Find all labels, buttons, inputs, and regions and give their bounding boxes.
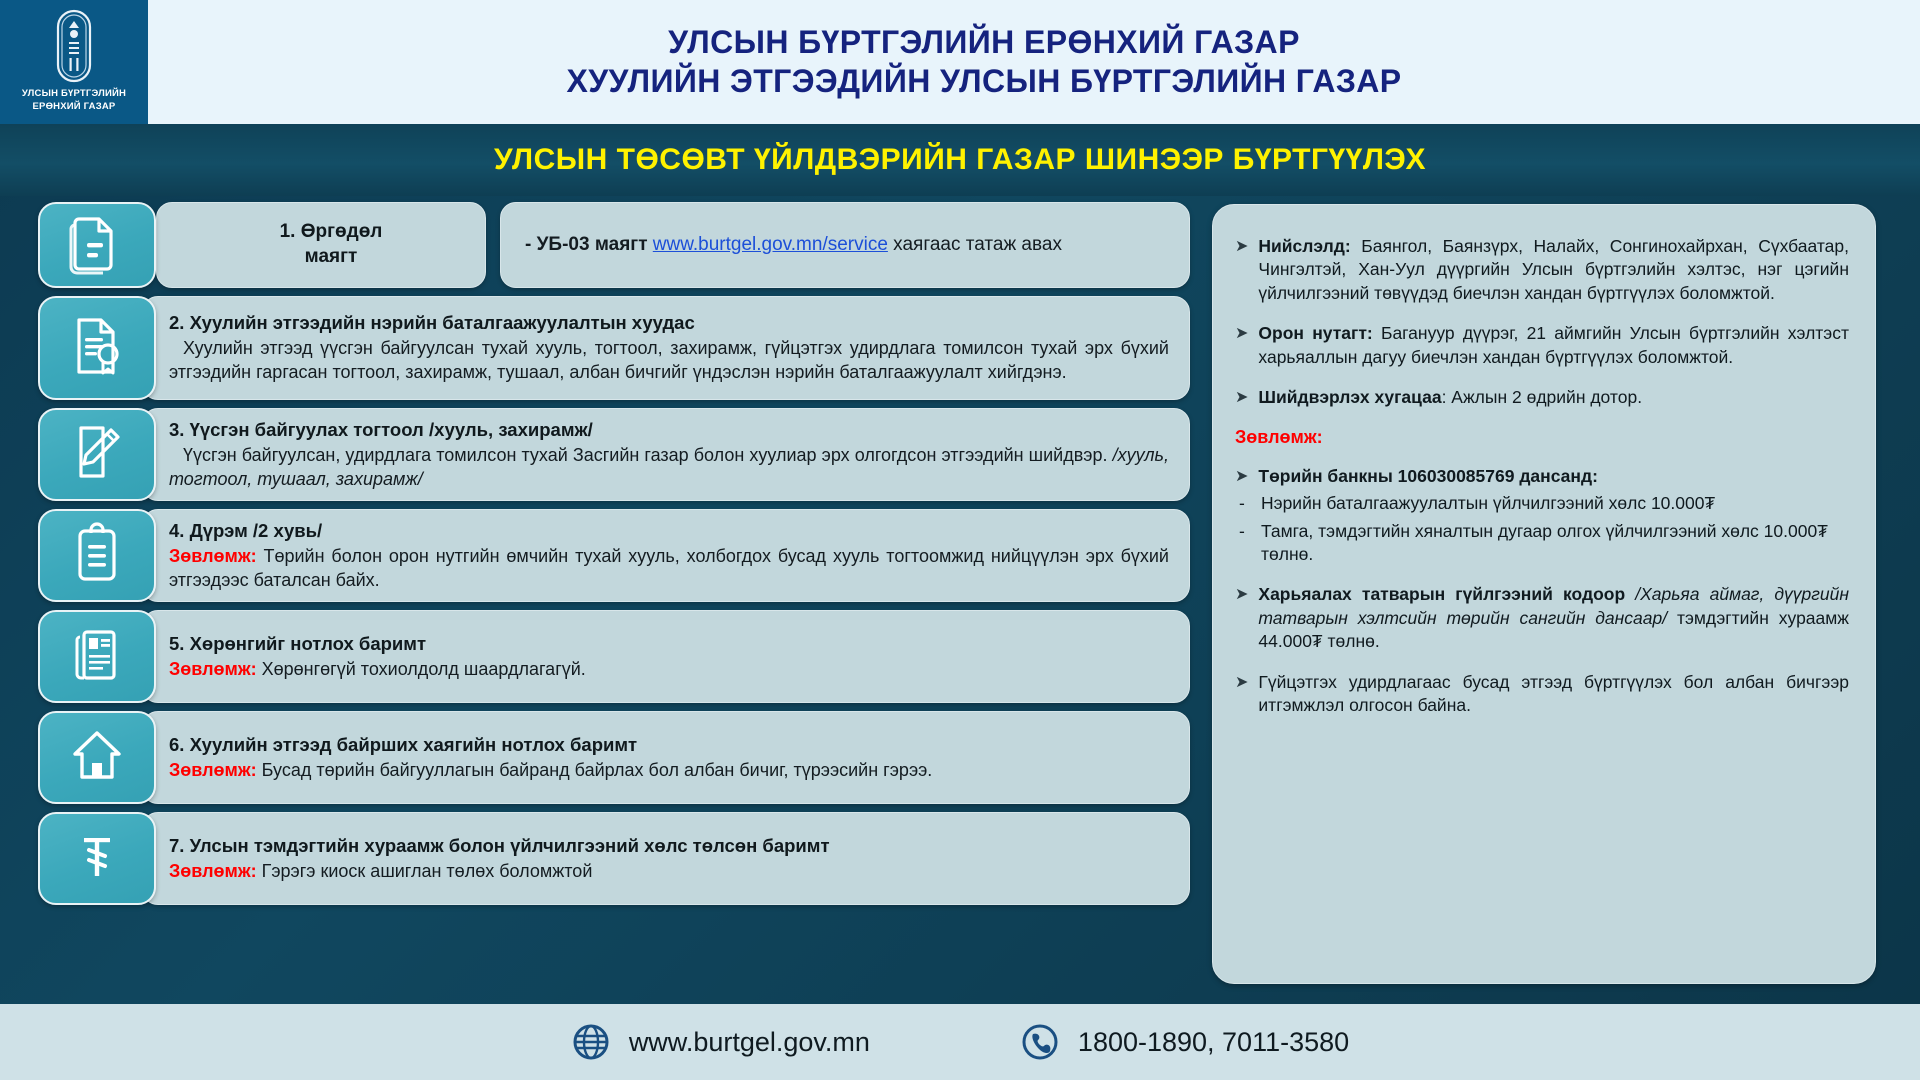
step-row-4: 4. Дүрэм /2 хувь/ Зөвлөмж: Төрийн болон … xyxy=(38,509,1190,602)
certificate-icon xyxy=(67,314,127,383)
step-5-rec-label: Зөвлөмж: xyxy=(169,659,257,679)
footer-website-text: www.burtgel.gov.mn xyxy=(629,1027,870,1058)
step-1-icon-tile xyxy=(38,202,156,288)
info-recommendation-header: Зөвлөмж: xyxy=(1235,427,1849,448)
document-icon xyxy=(67,211,127,280)
info-bullet-duration: ➤ Шийдвэрлэх хугацаа: Ажлын 2 өдрийн дот… xyxy=(1235,386,1849,409)
soyombo-emblem-icon xyxy=(49,9,99,83)
step-7-body: Зөвлөмж: Гэрэгэ киоск ашиглан төлөх боло… xyxy=(169,860,1169,884)
logo-caption-line2: ЕРӨНХИЙ ГАЗАР xyxy=(22,101,126,114)
step-3-title: 3. Үүсгэн байгуулах тогтоол /хууль, захи… xyxy=(169,418,1169,442)
newspaper-icon xyxy=(67,622,127,691)
arrow-bullet-icon: ➤ xyxy=(1235,583,1248,653)
footer-phone-text: 1800-1890, 7011-3580 xyxy=(1078,1027,1349,1058)
footer-website[interactable]: www.burtgel.gov.mn xyxy=(571,1022,870,1062)
info-bullet-capital: ➤ Нийслэлд: Баянгол, Баянзүрх, Налайх, С… xyxy=(1235,235,1849,305)
infographic-page: УЛСЫН БҮРТГЭЛИЙН ЕРӨНХИЙ ГАЗАР УЛСЫН БҮР… xyxy=(0,0,1920,1080)
step-1-label: 1. Өргөдөлмаягт xyxy=(280,220,383,269)
info-bullet-province: ➤ Орон нутагт: Багануур дүүрэг, 21 аймги… xyxy=(1235,322,1849,369)
step-5-title: 5. Хөрөнгийг нотлох баримт xyxy=(169,632,1169,656)
info-bullet-proxy-text: Гүйцэтгэх удирдлагаас бусад этгээд бүртг… xyxy=(1258,671,1849,718)
step-6-title: 6. Хуулийн этгээд байрших хаягийн нотлох… xyxy=(169,733,1169,757)
footer-phone[interactable]: 1800-1890, 7011-3580 xyxy=(1020,1022,1349,1062)
step-6-card: 6. Хуулийн этгээд байрших хаягийн нотлох… xyxy=(142,711,1190,804)
step-row-2: 2. Хуулийн этгээдийн нэрийн баталгаажуул… xyxy=(38,296,1190,400)
step-2-icon-tile xyxy=(38,296,156,400)
header-title-group: УЛСЫН БҮРТГЭЛИЙН ЕРӨНХИЙ ГАЗАР ХУУЛИЙН Э… xyxy=(148,0,1920,124)
info-bullet-duration-text: Шийдвэрлэх хугацаа: Ажлын 2 өдрийн дотор… xyxy=(1258,386,1849,409)
clipboard-icon xyxy=(67,521,127,590)
arrow-bullet-icon: ➤ xyxy=(1235,465,1248,488)
info-bank-fee-1: - Нэрийн баталгаажуулалтын үйлчилгээний … xyxy=(1239,492,1849,515)
info-bullet-bank: ➤ Төрийн банкны 106030085769 дансанд: xyxy=(1235,465,1849,488)
pencil-icon xyxy=(67,420,127,489)
step-1-label-box: 1. Өргөдөлмаягт xyxy=(156,202,486,288)
arrow-bullet-icon: ➤ xyxy=(1235,386,1248,409)
step-6-rec-label: Зөвлөмж: xyxy=(169,760,257,780)
info-bullet-tax-text: Харьяалах татварын гүйлгээний кодоор /Ха… xyxy=(1258,583,1849,653)
header-title-line1: УЛСЫН БҮРТГЭЛИЙН ЕРӨНХИЙ ГАЗАР xyxy=(668,23,1300,62)
service-link[interactable]: www.burtgel.gov.mn/service xyxy=(653,234,888,255)
step-1-note-prefix: - УБ-03 маягт xyxy=(525,234,653,255)
step-5-icon-tile xyxy=(38,610,156,703)
step-4-rec-label: Зөвлөмж: xyxy=(169,546,257,566)
logo-caption-line1: УЛСЫН БҮРТГЭЛИЙН xyxy=(22,88,126,101)
step-6-body: Зөвлөмж: Бусад төрийн байгууллагын байра… xyxy=(169,759,1169,783)
step-5-body-text: Хөрөнгөгүй тохиолдолд шаардлагагүй. xyxy=(257,659,586,679)
step-4-icon-tile xyxy=(38,509,156,602)
organization-logo: УЛСЫН БҮРТГЭЛИЙН ЕРӨНХИЙ ГАЗАР xyxy=(0,0,148,124)
step-3-card: 3. Үүсгэн байгуулах тогтоол /хууль, захи… xyxy=(142,408,1190,501)
step-7-icon-tile xyxy=(38,812,156,905)
arrow-bullet-icon: ➤ xyxy=(1235,322,1248,369)
tugrik-icon xyxy=(67,824,127,893)
info-column: ➤ Нийслэлд: Баянгол, Баянзүрх, Налайх, С… xyxy=(1212,202,1876,1004)
step-4-body: Зөвлөмж: Төрийн болон орон нутгийн өмчий… xyxy=(169,545,1169,593)
step-3-body: Үүсгэн байгуулсан, удирдлага томилсон ту… xyxy=(169,444,1169,492)
step-row-5: 5. Хөрөнгийг нотлох баримт Зөвлөмж: Хөрө… xyxy=(38,610,1190,703)
step-5-card: 5. Хөрөнгийг нотлох баримт Зөвлөмж: Хөрө… xyxy=(142,610,1190,703)
globe-icon xyxy=(571,1022,611,1062)
step-3-body-text: Үүсгэн байгуулсан, удирдлага томилсон ту… xyxy=(183,445,1113,465)
info-bullet-capital-text: Нийслэлд: Баянгол, Баянзүрх, Налайх, Сон… xyxy=(1258,235,1849,305)
content-area: 1. Өргөдөлмаягт - УБ-03 маягт www.burtge… xyxy=(0,196,1920,1004)
info-bullet-duration-label: Шийдвэрлэх хугацаа xyxy=(1258,387,1441,407)
step-6-icon-tile xyxy=(38,711,156,804)
step-row-6: 6. Хуулийн этгээд байрших хаягийн нотлох… xyxy=(38,711,1190,804)
step-3-icon-tile xyxy=(38,408,156,501)
info-bank-fee-1-text: Нэрийн баталгаажуулалтын үйлчилгээний хө… xyxy=(1261,492,1849,515)
arrow-bullet-icon: ➤ xyxy=(1235,235,1248,305)
step-7-title: 7. Улсын тэмдэгтийн хураамж болон үйлчил… xyxy=(169,834,1169,858)
info-bank-group: ➤ Төрийн банкны 106030085769 дансанд: - … xyxy=(1235,465,1849,567)
arrow-bullet-icon: ➤ xyxy=(1235,671,1248,718)
info-tax-label: Харьяалах татварын гүйлгээний кодоор xyxy=(1258,584,1635,604)
step-1-note-suffix: хаягаас татаж авах xyxy=(888,234,1062,255)
info-bullet-tax: ➤ Харьяалах татварын гүйлгээний кодоор /… xyxy=(1235,583,1849,653)
step-row-3: 3. Үүсгэн байгуулах тогтоол /хууль, захи… xyxy=(38,408,1190,501)
step-4-title: 4. Дүрэм /2 хувь/ xyxy=(169,519,1169,543)
header-title-line2: ХУУЛИЙН ЭТГЭЭДИЙН УЛСЫН БҮРТГЭЛИЙН ГАЗАР xyxy=(566,62,1401,101)
step-row-7: 7. Улсын тэмдэгтийн хураамж болон үйлчил… xyxy=(38,812,1190,905)
step-4-body-text: Төрийн болон орон нутгийн өмчийн тухай х… xyxy=(169,546,1169,590)
step-7-card: 7. Улсын тэмдэгтийн хураамж болон үйлчил… xyxy=(142,812,1190,905)
page-footer: www.burtgel.gov.mn 1800-1890, 7011-3580 xyxy=(0,1004,1920,1080)
info-bank-fee-2-text: Тамга, тэмдэгтийн хяналтын дугаар олгох … xyxy=(1261,520,1849,567)
phone-icon xyxy=(1020,1022,1060,1062)
info-bank-fee-2: - Тамга, тэмдэгтийн хяналтын дугаар олго… xyxy=(1239,520,1849,567)
info-bullet-capital-label: Нийслэлд: xyxy=(1258,236,1350,256)
info-bullet-province-text: Орон нутагт: Багануур дүүрэг, 21 аймгийн… xyxy=(1258,322,1849,369)
step-2-card: 2. Хуулийн этгээдийн нэрийн баталгаажуул… xyxy=(142,296,1190,400)
step-7-rec-label: Зөвлөмж: xyxy=(169,861,257,881)
step-1-note: - УБ-03 маягт www.burtgel.gov.mn/service… xyxy=(525,234,1062,256)
step-1-note-box: - УБ-03 маягт www.burtgel.gov.mn/service… xyxy=(500,202,1190,288)
main-title-bar: УЛСЫН ТӨСӨВТ ҮЙЛДВЭРИЙН ГАЗАР ШИНЭЭР БҮР… xyxy=(0,124,1920,196)
page-header: УЛСЫН БҮРТГЭЛИЙН ЕРӨНХИЙ ГАЗАР УЛСЫН БҮР… xyxy=(0,0,1920,124)
steps-column: 1. Өргөдөлмаягт - УБ-03 маягт www.burtge… xyxy=(38,202,1190,1004)
house-icon xyxy=(67,723,127,792)
step-5-body: Зөвлөмж: Хөрөнгөгүй тохиолдолд шаардлага… xyxy=(169,658,1169,682)
info-bullet-proxy: ➤ Гүйцэтгэх удирдлагаас бусад этгээд бүр… xyxy=(1235,671,1849,718)
dash-bullet-icon: - xyxy=(1239,492,1249,515)
step-2-title: 2. Хуулийн этгээдийн нэрийн баталгаажуул… xyxy=(169,311,1169,335)
step-7-body-text: Гэрэгэ киоск ашиглан төлөх боломжтой xyxy=(257,861,593,881)
info-bank-account: Төрийн банкны 106030085769 дансанд: xyxy=(1258,466,1598,486)
main-title: УЛСЫН ТӨСӨВТ ҮЙЛДВЭРИЙН ГАЗАР ШИНЭЭР БҮР… xyxy=(494,143,1426,177)
info-panel: ➤ Нийслэлд: Баянгол, Баянзүрх, Налайх, С… xyxy=(1212,204,1876,984)
info-bank-label: Төрийн банкны 106030085769 дансанд: xyxy=(1258,465,1849,488)
info-bullet-province-label: Орон нутагт: xyxy=(1258,323,1372,343)
info-bullet-duration-body: : Ажлын 2 өдрийн дотор. xyxy=(1442,387,1642,407)
dash-bullet-icon: - xyxy=(1239,520,1249,567)
step-6-body-text: Бусад төрийн байгууллагын байранд байрла… xyxy=(257,760,933,780)
step-4-card: 4. Дүрэм /2 хувь/ Зөвлөмж: Төрийн болон … xyxy=(142,509,1190,602)
logo-caption: УЛСЫН БҮРТГЭЛИЙН ЕРӨНХИЙ ГАЗАР xyxy=(22,88,126,114)
step-2-body: Хуулийн этгээд үүсгэн байгуулсан тухай х… xyxy=(169,337,1169,385)
step-row-1: 1. Өргөдөлмаягт - УБ-03 маягт www.burtge… xyxy=(38,202,1190,288)
